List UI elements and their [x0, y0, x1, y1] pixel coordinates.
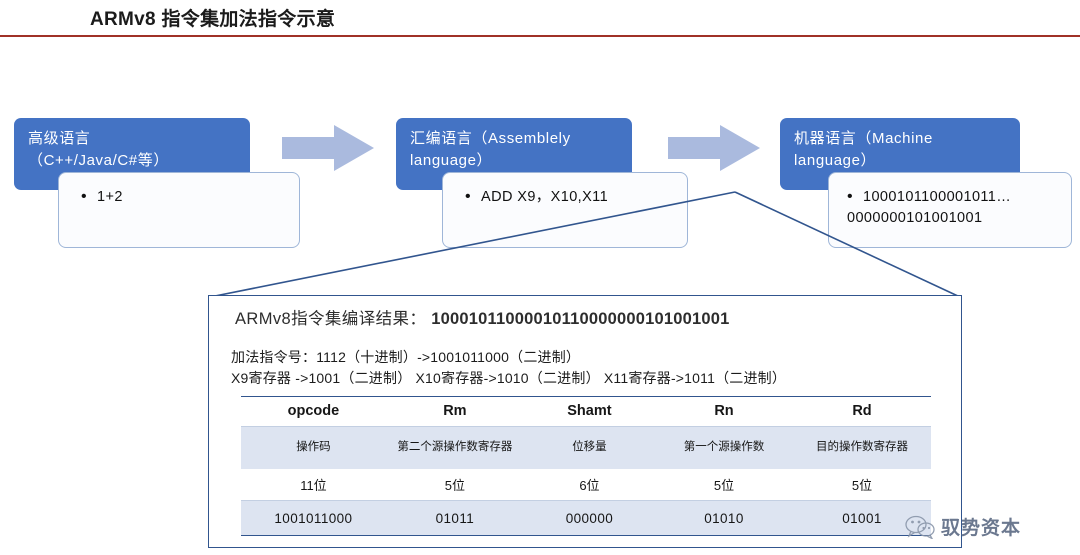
watermark: 驭势资本	[905, 513, 1021, 540]
page-title: ARMv8 指令集加法指令示意	[90, 4, 335, 31]
header-rm: Rm	[386, 397, 524, 427]
value-rn: 01010	[655, 501, 793, 536]
stage1-header-line2: （C++/Java/C#等）	[28, 150, 238, 172]
stage-body-machine-language: 1000101100001011… 0000000101001001	[828, 172, 1072, 248]
value-rm: 01011	[386, 501, 524, 536]
table-row-bit-widths: 11位 5位 6位 5位 5位	[241, 469, 931, 501]
desc-rn: 第一个源操作数	[655, 427, 793, 469]
bits-opcode: 11位	[241, 469, 386, 501]
compile-result-label: ARMv8指令集编译结果：	[235, 310, 426, 328]
table-row-headers: opcode Rm Shamt Rn Rd	[241, 397, 931, 427]
instruction-detail-panel: ARMv8指令集编译结果： 10001011000010110000000101…	[208, 295, 962, 548]
desc-shamt: 位移量	[524, 427, 655, 469]
stage2-header-line2: language）	[410, 150, 620, 172]
bits-shamt: 6位	[524, 469, 655, 501]
bits-rd: 5位	[793, 469, 931, 501]
compile-result-binary: 10001011000010110000000101001001	[431, 310, 729, 328]
desc-opcode: 操作码	[241, 427, 386, 469]
desc-rd: 目的操作数寄存器	[793, 427, 931, 469]
stage3-header-line2: language）	[794, 150, 1008, 172]
stage3-header-line1: 机器语言（Machine	[794, 128, 1008, 150]
header-rd: Rd	[793, 397, 931, 427]
watermark-text: 驭势资本	[941, 513, 1021, 540]
note-line-registers: X9寄存器 ->1001（二进制） X10寄存器->1010（二进制） X11寄…	[231, 368, 786, 388]
table-row-descriptions: 操作码 第二个源操作数寄存器 位移量 第一个源操作数 目的操作数寄存器	[241, 427, 931, 469]
stage2-body-line1: ADD X9，X10,X11	[465, 187, 677, 208]
stage3-body-line2: 0000000101001001	[847, 208, 1061, 229]
stage3-body-line1: 1000101100001011…	[847, 187, 1061, 208]
wechat-icon	[905, 515, 935, 539]
stage-body-assembly-language: ADD X9，X10,X11	[442, 172, 688, 248]
arrow-1-to-2-icon	[282, 125, 374, 171]
header-rn: Rn	[655, 397, 793, 427]
stage1-body-line1: 1+2	[81, 187, 289, 208]
arrow-2-to-3-icon	[668, 125, 760, 171]
title-divider	[0, 35, 1080, 37]
stage1-header-line1: 高级语言	[28, 128, 238, 150]
stage-body-high-level-language: 1+2	[58, 172, 300, 248]
compile-result-line: ARMv8指令集编译结果： 10001011000010110000000101…	[235, 305, 730, 329]
instruction-field-table: opcode Rm Shamt Rn Rd 操作码 第二个源操作数寄存器 位移量…	[241, 396, 931, 536]
value-shamt: 000000	[524, 501, 655, 536]
header-shamt: Shamt	[524, 397, 655, 427]
header-opcode: opcode	[241, 397, 386, 427]
value-opcode: 1001011000	[241, 501, 386, 536]
table-row-values: 1001011000 01011 000000 01010 01001	[241, 501, 931, 536]
note-line-opcode: 加法指令号：1112（十进制）->1001011000（二进制）	[231, 347, 580, 367]
stage2-header-line1: 汇编语言（Assemblely	[410, 128, 620, 150]
desc-rm: 第二个源操作数寄存器	[386, 427, 524, 469]
bits-rm: 5位	[386, 469, 524, 501]
bits-rn: 5位	[655, 469, 793, 501]
slide-canvas: ARMv8 指令集加法指令示意 高级语言 （C++/Java/C#等） 1+2 …	[0, 0, 1080, 555]
